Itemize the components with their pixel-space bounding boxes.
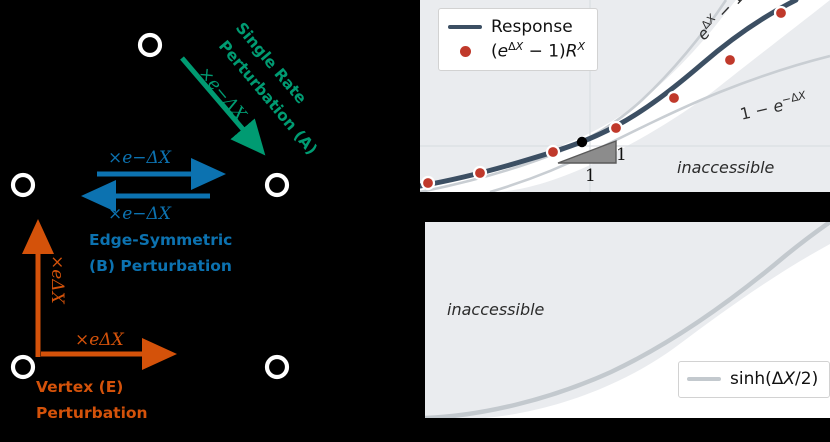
vertex-title-line1: Vertex (E) [36, 378, 123, 396]
legend-label-markers: (eΔX − 1)RX [491, 40, 585, 62]
slope-rise-label: 1 [616, 145, 627, 165]
inaccessible-label-top: inaccessible [677, 158, 774, 177]
node-bottom-left [13, 357, 33, 377]
chart-response-panel: Response (eΔX − 1)RX eΔX − 1 1 − e−ΔX in… [420, 0, 830, 192]
vertex-label-vertical: ×eΔX [47, 255, 67, 305]
legend-dot [460, 46, 471, 57]
node-right [267, 175, 287, 195]
node-bottom-right [267, 357, 287, 377]
legend-entry-sinh: sinh(ΔX/2) [687, 367, 818, 391]
edge-symmetric-label-bottom: ×e−ΔX [108, 204, 172, 224]
legend-entry-response: Response [448, 15, 585, 39]
perturbation-diagram: Single Rate Perturbation (A) ×e−ΔX ×e−ΔX… [0, 0, 415, 442]
slope-run-label: 1 [585, 166, 596, 186]
origin-marker [577, 137, 587, 147]
legend-line-swatch [448, 25, 482, 29]
legend-label-response: Response [491, 17, 573, 37]
legend-label-sinh: sinh(ΔX/2) [730, 369, 818, 389]
chart-legend-top: Response (eΔX − 1)RX [438, 8, 598, 71]
edge-symmetric-title-line1: Edge-Symmetric [89, 231, 232, 249]
legend-entry-markers: (eΔX − 1)RX [448, 39, 585, 63]
legend-line-swatch-sinh [687, 377, 721, 381]
charts-column: Response (eΔX − 1)RX eΔX − 1 1 − e−ΔX in… [415, 0, 830, 442]
node-left [13, 175, 33, 195]
edge-symmetric-title-line2: (B) Perturbation [89, 257, 232, 275]
chart-sinh-panel: inaccessible sinh(ΔX/2) [425, 222, 830, 418]
edge-symmetric-label-top: ×e−ΔX [108, 148, 172, 168]
vertex-title-line2: Perturbation [36, 404, 148, 422]
node-top [140, 35, 160, 55]
legend-dot-swatch [448, 46, 482, 57]
vertex-label-horizontal: ×eΔX [75, 330, 125, 350]
chart-legend-bottom: sinh(ΔX/2) [678, 361, 830, 398]
inaccessible-label-bottom: inaccessible [447, 300, 544, 319]
